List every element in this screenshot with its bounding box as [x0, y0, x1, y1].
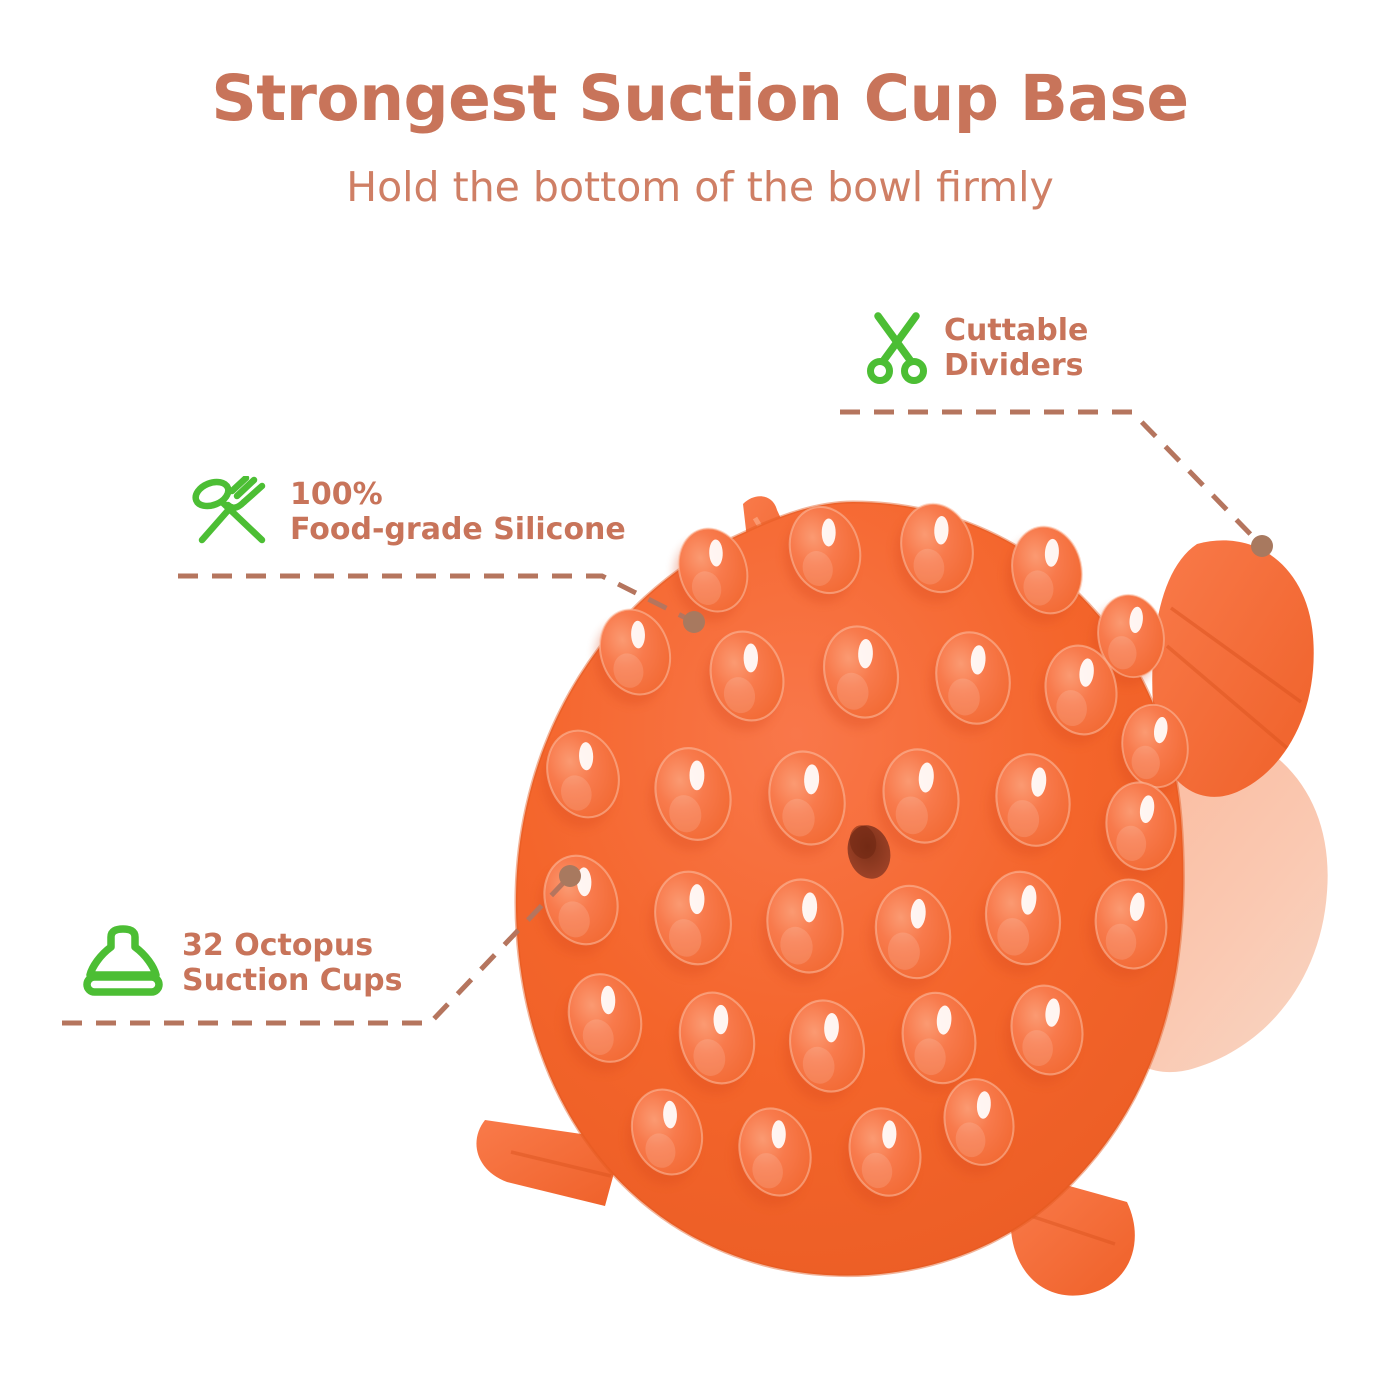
callout-suction-label: 32 Octopus Suction Cups — [182, 928, 403, 999]
callout-cuttable-dividers: Cuttable Dividers — [866, 312, 1088, 384]
product-illustration — [455, 440, 1355, 1340]
callout-silicone-label: 100% Food-grade Silicone — [290, 477, 626, 548]
scissors-icon — [866, 312, 928, 384]
suction-cup-icon — [80, 925, 166, 1001]
page-title: Strongest Suction Cup Base — [0, 62, 1400, 135]
callout-cuttable-label: Cuttable Dividers — [944, 313, 1088, 384]
infographic-canvas: Cuttable Dividers 100% Food-grade Silico… — [0, 0, 1400, 1400]
callout-octopus-suction-cups: 32 Octopus Suction Cups — [80, 925, 403, 1001]
spoon-fork-icon — [190, 476, 274, 548]
callout-food-grade-silicone: 100% Food-grade Silicone — [190, 476, 626, 548]
page-subtitle: Hold the bottom of the bowl firmly — [0, 163, 1400, 211]
